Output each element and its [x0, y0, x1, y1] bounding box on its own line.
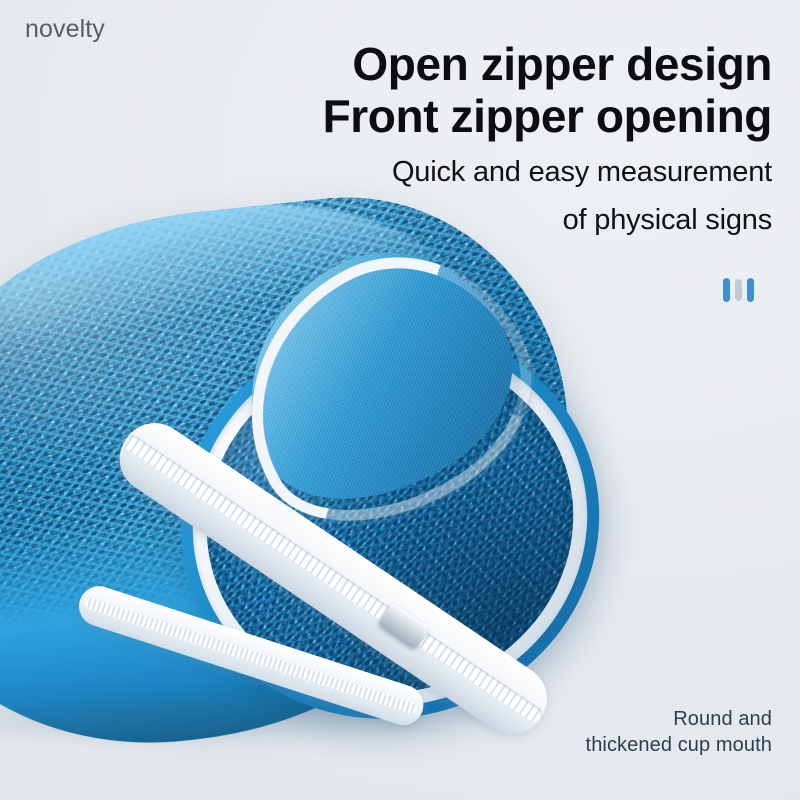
product-banner: novelty	[0, 0, 800, 800]
brand-watermark: novelty	[25, 17, 105, 42]
contact-shadow	[0, 678, 510, 758]
caption-line-1: Round and	[586, 706, 772, 732]
subhead-line-1: Quick and easy measurement	[152, 154, 772, 190]
copy-block: Open zipper design Front zipper opening …	[152, 38, 772, 238]
headline-line-1: Open zipper design	[152, 38, 772, 90]
subhead-line-2: of physical signs	[152, 202, 772, 238]
feature-caption: Round and thickened cup mouth	[586, 706, 772, 758]
caption-line-2: thickened cup mouth	[586, 732, 772, 758]
headline-line-2: Front zipper opening	[152, 90, 772, 142]
mark-bar-left	[723, 278, 730, 302]
product-image	[0, 208, 590, 748]
mark-bar-right	[747, 278, 754, 302]
mark-bar-center	[735, 279, 742, 301]
three-bar-mark-icon	[723, 278, 755, 302]
